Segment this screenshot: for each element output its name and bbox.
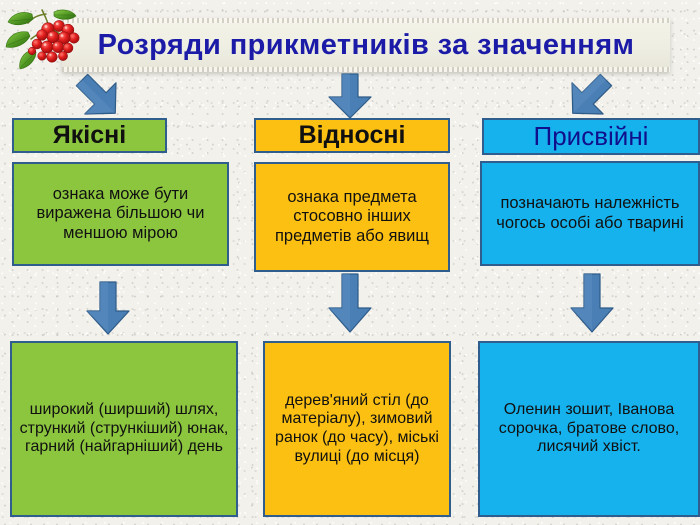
category-examples-qualitative-text: широкий (ширший) шлях, стрункий (стрункі… — [19, 401, 229, 457]
title-banner: Розряди прикметників за значенням — [62, 18, 670, 72]
category-examples-relative: дерев'яний стіл (до матеріалу), зимовий … — [263, 341, 451, 517]
category-header-qualitative-label: Якісні — [53, 121, 126, 150]
arrow-down-left-icon — [72, 72, 126, 122]
category-description-qualitative-text: ознака може бути виражена більшою чи мен… — [20, 185, 221, 242]
arrow-down-icon — [326, 272, 374, 334]
category-header-relative-label: Відносні — [299, 121, 406, 150]
category-description-qualitative: ознака може бути виражена більшою чи мен… — [12, 162, 229, 266]
arrow-down-icon — [326, 72, 374, 120]
category-header-possessive-label: Присвійні — [534, 121, 649, 151]
page-title: Розряди прикметників за значенням — [98, 29, 635, 62]
category-description-possessive: позначають належність чогось особі або т… — [480, 161, 700, 266]
arrow-down-icon — [568, 272, 616, 334]
category-examples-possessive-text: Оленин зошит, Іванова сорочка, братове с… — [487, 401, 691, 457]
category-examples-relative-text: дерев'яний стіл (до матеріалу), зимовий … — [272, 392, 442, 466]
arrow-down-icon — [84, 280, 132, 336]
category-examples-possessive: Оленин зошит, Іванова сорочка, братове с… — [478, 341, 700, 517]
category-header-possessive: Присвійні — [482, 118, 700, 155]
category-description-relative: ознака предмета стосовно інших предметів… — [254, 162, 450, 272]
category-description-relative-text: ознака предмета стосовно інших предметів… — [262, 188, 442, 245]
category-header-qualitative: Якісні — [12, 118, 167, 153]
category-examples-qualitative: широкий (ширший) шлях, стрункий (стрункі… — [10, 341, 238, 517]
arrow-down-right-icon — [562, 72, 616, 122]
category-header-relative: Відносні — [254, 118, 450, 153]
category-description-possessive-text: позначають належність чогось особі або т… — [488, 194, 692, 232]
